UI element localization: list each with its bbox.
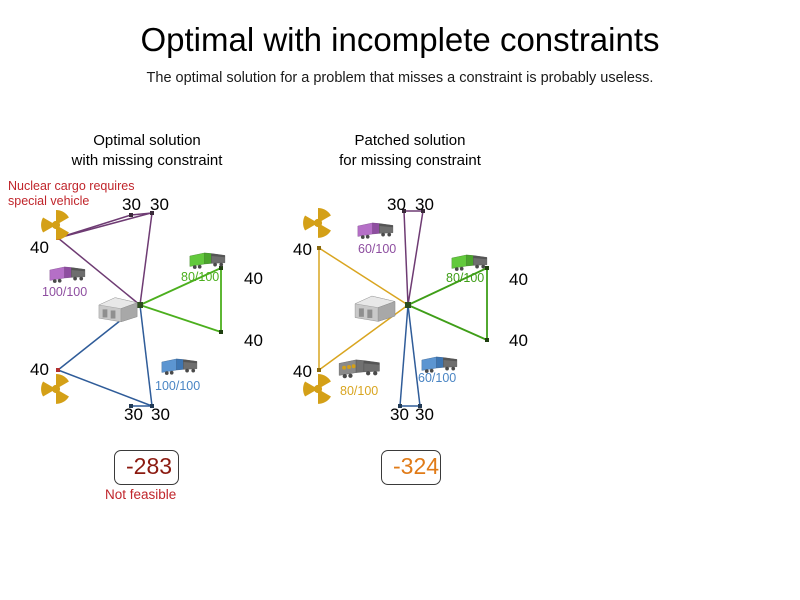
radiation-icon	[300, 206, 336, 240]
label-left-bottom-right-30: 30	[151, 405, 170, 425]
truck-icon	[337, 354, 383, 382]
label-right-bottom-left-30: 30	[390, 405, 409, 425]
truck-icon	[356, 218, 396, 242]
panel-heading-left-line1: Optimal solution	[17, 131, 277, 151]
slide: Optimal with incomplete constraints The …	[0, 0, 800, 600]
panel-heading-left-line2: with missing constraint	[17, 151, 277, 171]
load-label-green-right: 80/100	[446, 271, 484, 285]
label-right-top-right-30: 30	[415, 195, 434, 215]
panel-heading-right-line2: for missing constraint	[280, 151, 540, 171]
constraint-note: Nuclear cargo requires special vehicle	[8, 179, 168, 210]
page-title: Optimal with incomplete constraints	[0, 22, 800, 58]
load-label-blue-right: 60/100	[418, 371, 456, 385]
label-right-nuclear-lower-40: 40	[293, 362, 312, 382]
panel-heading-right: Patched solution for missing constraint	[280, 131, 540, 172]
edge-right-lower-to-hub	[140, 305, 221, 332]
label-right-nuclear-upper-40: 40	[293, 240, 312, 260]
truck-icon	[48, 262, 88, 286]
edge-hub-to-bottom-left	[400, 305, 408, 406]
node-right-lower	[485, 338, 489, 342]
warehouse-icon	[352, 290, 398, 326]
objective-value-left: -283	[114, 450, 179, 485]
page-subtitle: The optimal solution for a problem that …	[0, 70, 800, 86]
label-left-bottom-left-30: 30	[124, 405, 143, 425]
label-right-right-lower-40: 40	[509, 331, 528, 351]
label-right-bottom-right-30: 30	[415, 405, 434, 425]
label-left-right-lower-40: 40	[244, 331, 263, 351]
node-right-lower	[219, 330, 223, 334]
constraint-note-line2: special vehicle	[8, 194, 168, 209]
label-left-nuclear-upper-40: 40	[30, 238, 49, 258]
edge-top-right-to-hub	[140, 213, 152, 305]
truck-icon	[188, 248, 228, 272]
load-label-nuclear-truck: 80/100	[340, 384, 378, 398]
route-blue-right	[400, 305, 420, 406]
load-label-green-left: 80/100	[181, 270, 219, 284]
edge-top-right-to-hub	[408, 211, 423, 305]
warehouse-icon-right	[352, 290, 398, 331]
truck-icon	[160, 354, 200, 378]
label-left-nuclear-lower-40: 40	[30, 360, 49, 380]
radiation-icon	[38, 208, 74, 242]
objective-value-right: -324	[381, 450, 441, 485]
panel-heading-right-line1: Patched solution	[280, 131, 540, 151]
node-hub-depot	[405, 302, 411, 308]
edge-bottom-right-to-hub	[140, 305, 152, 406]
edge-right-lower-to-hub	[408, 305, 487, 340]
edge-hub-to-top-left	[404, 211, 408, 305]
load-label-purple-right: 60/100	[358, 242, 396, 256]
node-nuclear-upper	[317, 246, 321, 250]
label-left-right-upper-40: 40	[244, 269, 263, 289]
warehouse-icon	[96, 292, 140, 326]
edge-bottom-right-to-hub	[408, 305, 420, 406]
load-label-blue-left: 100/100	[155, 379, 200, 393]
warehouse-icon-left	[96, 292, 140, 331]
label-left-top-right-30: 30	[150, 195, 169, 215]
feasibility-status-left: Not feasible	[105, 487, 176, 502]
load-label-purple-left: 100/100	[42, 285, 87, 299]
route-purple-right	[404, 211, 423, 305]
label-left-top-left-30: 30	[122, 195, 141, 215]
constraint-note-line1: Nuclear cargo requires	[8, 179, 168, 194]
truck-icon-nuclear-special	[337, 354, 383, 387]
label-right-top-left-30: 30	[387, 195, 406, 215]
label-right-right-upper-40: 40	[509, 270, 528, 290]
panel-heading-left: Optimal solution with missing constraint	[17, 131, 277, 172]
